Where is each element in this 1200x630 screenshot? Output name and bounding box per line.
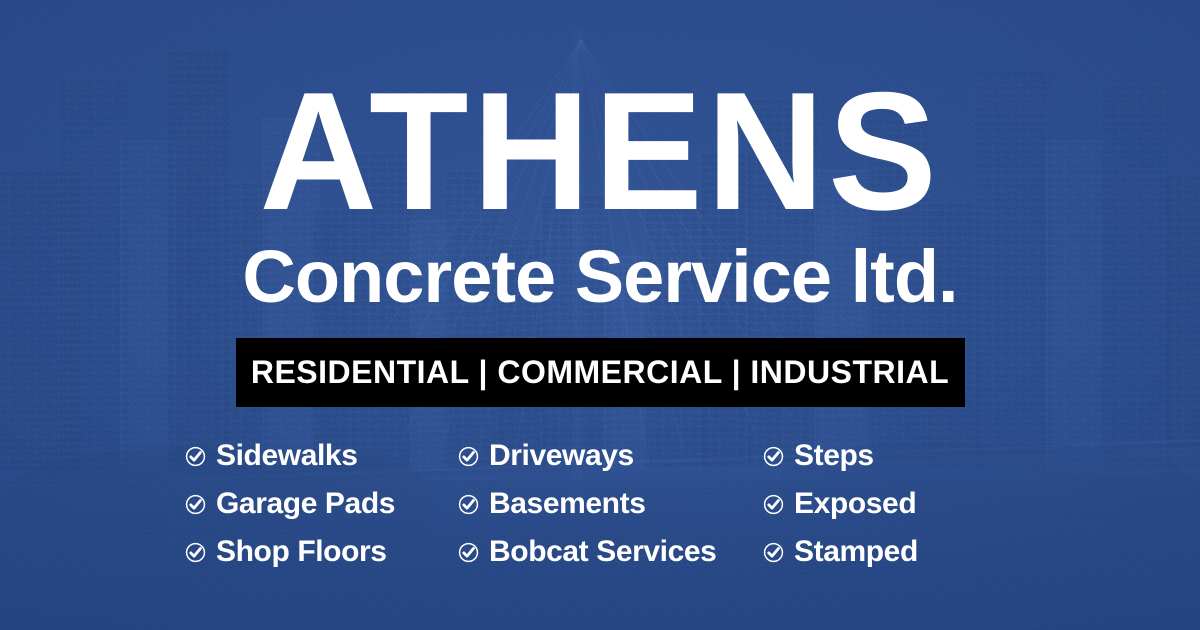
service-item: Shop Floors	[185, 533, 458, 571]
service-label: Stamped	[794, 537, 918, 567]
service-label: Steps	[794, 441, 874, 471]
service-label: Bobcat Services	[489, 537, 716, 567]
service-label: Shop Floors	[216, 537, 387, 567]
tagline-bar: RESIDENTIAL | COMMERCIAL | INDUSTRIAL	[236, 338, 965, 407]
company-name-subtitle: Concrete Service ltd.	[242, 240, 957, 314]
check-circle-icon	[185, 542, 206, 563]
service-item: Bobcat Services	[458, 533, 763, 571]
check-circle-icon	[763, 494, 784, 515]
check-circle-icon	[763, 542, 784, 563]
service-item: Garage Pads	[185, 485, 458, 523]
tagline-text: RESIDENTIAL | COMMERCIAL | INDUSTRIAL	[251, 354, 949, 391]
service-label: Basements	[489, 489, 645, 519]
check-circle-icon	[185, 446, 206, 467]
service-item: Basements	[458, 485, 763, 523]
check-circle-icon	[458, 494, 479, 515]
service-item: Steps	[763, 437, 1015, 475]
service-item: Exposed	[763, 485, 1015, 523]
check-circle-icon	[185, 494, 206, 515]
service-label: Exposed	[794, 489, 916, 519]
services-list: SidewalksDrivewaysStepsGarage PadsBaseme…	[185, 437, 1015, 571]
service-item: Stamped	[763, 533, 1015, 571]
check-circle-icon	[458, 446, 479, 467]
promo-banner: ATHENS Concrete Service ltd. RESIDENTIAL…	[0, 0, 1200, 630]
banner-content: ATHENS Concrete Service ltd. RESIDENTIAL…	[0, 0, 1200, 630]
check-circle-icon	[763, 446, 784, 467]
service-item: Sidewalks	[185, 437, 458, 475]
service-label: Driveways	[489, 441, 634, 471]
company-name-title: ATHENS	[259, 84, 940, 218]
service-label: Garage Pads	[216, 489, 395, 519]
service-label: Sidewalks	[216, 441, 357, 471]
service-item: Driveways	[458, 437, 763, 475]
check-circle-icon	[458, 542, 479, 563]
